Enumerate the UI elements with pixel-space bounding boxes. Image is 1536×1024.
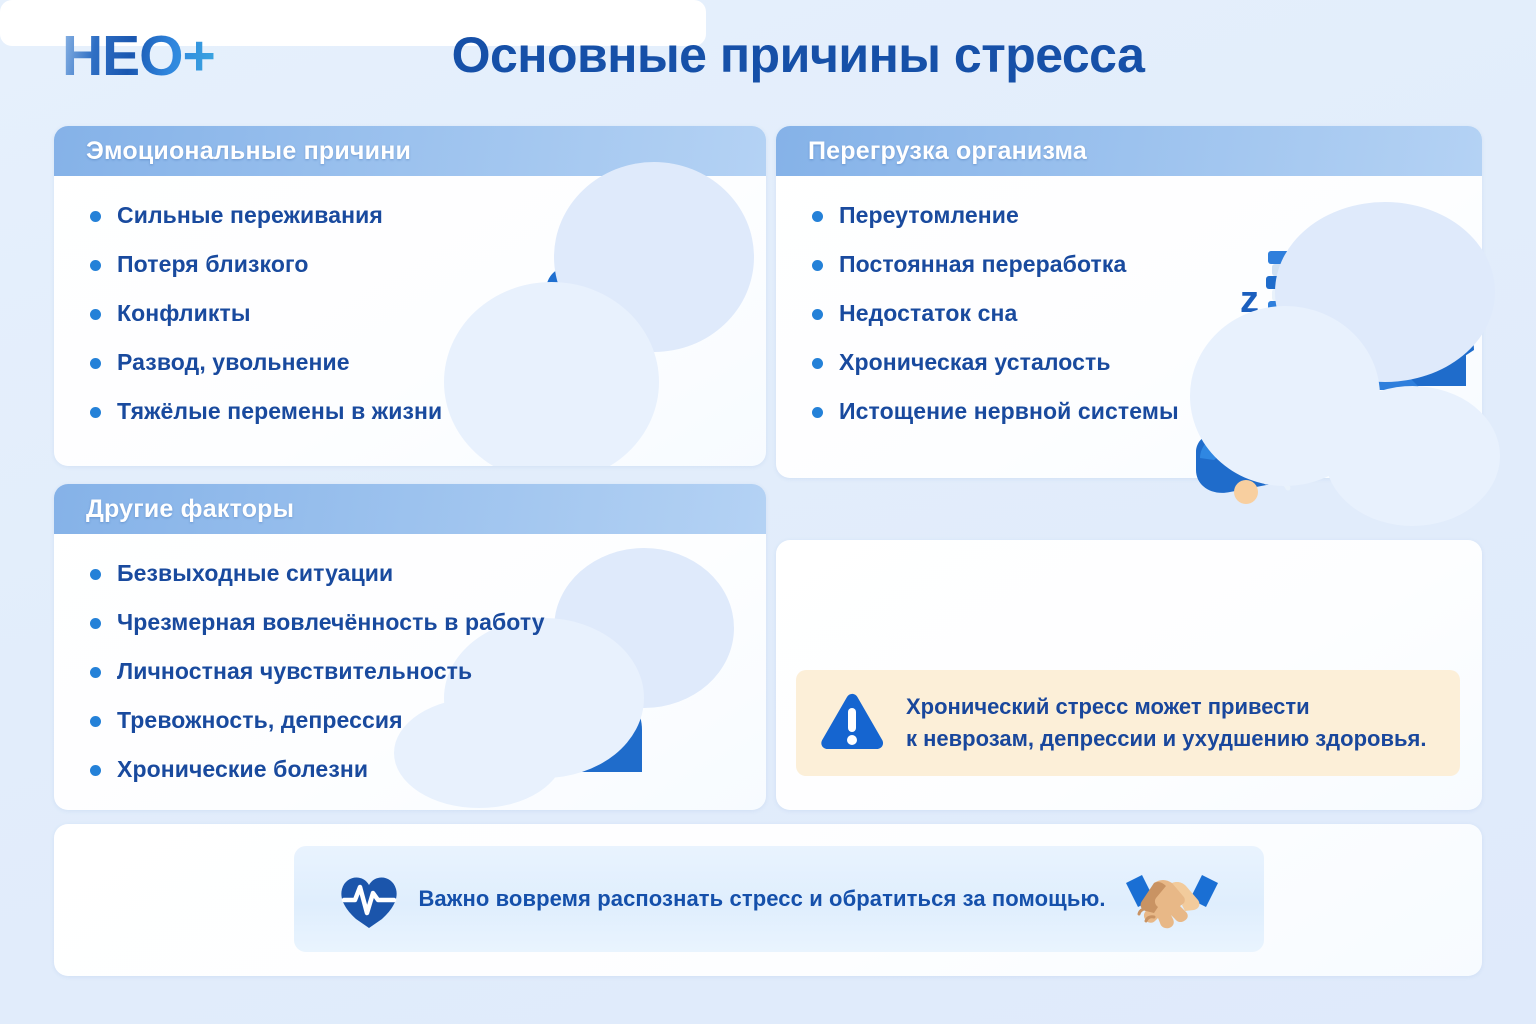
- list-item: Потеря близкого: [90, 251, 736, 278]
- list-item: Тревожность, депрессия: [90, 707, 736, 734]
- warning-triangle-icon: [818, 692, 886, 754]
- warning-line-2: к неврозам, депрессии и ухудшению здоров…: [906, 723, 1426, 755]
- list-item-label: Потеря близкого: [117, 251, 309, 278]
- infographic-page: НЕО+ Основные причины стресса Эмоциональ…: [0, 0, 1536, 1024]
- emotional-list: Сильные переживания Потеря близкого Конф…: [90, 202, 736, 425]
- list-item: Сильные переживания: [90, 202, 736, 229]
- list-item: Хроническая усталость: [812, 349, 1452, 376]
- list-item: Недостаток сна: [812, 300, 1452, 327]
- bullet-dot-icon: [90, 211, 101, 222]
- bullet-dot-icon: [90, 260, 101, 271]
- handshake-icon: [1124, 867, 1220, 931]
- bullet-dot-icon: [90, 618, 101, 629]
- warning-text: Хронический стресс может привести к невр…: [906, 691, 1426, 755]
- list-item: Безвыходные ситуации: [90, 560, 736, 587]
- card-overload: Перегрузка организма Переутомление Посто…: [776, 126, 1482, 478]
- bullet-dot-icon: [812, 407, 823, 418]
- warning-line-1: Хронический стресс может привести: [906, 691, 1426, 723]
- list-item-label: Сильные переживания: [117, 202, 383, 229]
- list-item-label: Переутомление: [839, 202, 1019, 229]
- list-item: Тяжёлые перемены в жизни: [90, 398, 736, 425]
- list-item-label: Развод, увольнение: [117, 349, 350, 376]
- bullet-dot-icon: [812, 260, 823, 271]
- footer-text: Важно вовремя распознать стресс и обрати…: [418, 886, 1105, 912]
- card-other: Другие факторы Безвыходные ситуации Чрез…: [54, 484, 766, 810]
- bullet-dot-icon: [90, 569, 101, 580]
- other-list: Безвыходные ситуации Чрезмерная вовлечён…: [90, 560, 736, 783]
- card-emotional-body: Сильные переживания Потеря близкого Конф…: [54, 176, 766, 445]
- warning-callout: Хронический стресс может привести к невр…: [796, 670, 1460, 776]
- card-emotional-header: Эмоциональные причини: [54, 126, 766, 176]
- card-emotional-title: Эмоциональные причини: [86, 137, 411, 166]
- list-item: Конфликты: [90, 300, 736, 327]
- list-item-label: Безвыходные ситуации: [117, 560, 393, 587]
- bullet-dot-icon: [90, 765, 101, 776]
- list-item: Постоянная переработка: [812, 251, 1452, 278]
- card-other-title: Другие факторы: [86, 495, 294, 524]
- bullet-dot-icon: [812, 309, 823, 320]
- overload-list: Переутомление Постоянная переработка Нед…: [812, 202, 1452, 425]
- list-item-label: Истощение нервной системы: [839, 398, 1179, 425]
- bullet-dot-icon: [90, 407, 101, 418]
- list-item: Переутомление: [812, 202, 1452, 229]
- card-other-body: Безвыходные ситуации Чрезмерная вовлечён…: [54, 534, 766, 803]
- card-overload-title: Перегрузка организма: [808, 137, 1087, 166]
- list-item-label: Недостаток сна: [839, 300, 1017, 327]
- list-item-label: Тяжёлые перемены в жизни: [117, 398, 442, 425]
- bullet-dot-icon: [812, 358, 823, 369]
- bullet-dot-icon: [90, 358, 101, 369]
- card-other-header: Другие факторы: [54, 484, 766, 534]
- list-item: Истощение нервной системы: [812, 398, 1452, 425]
- bullet-dot-icon: [812, 211, 823, 222]
- list-item-label: Хронические болезни: [117, 756, 368, 783]
- list-item-label: Тревожность, депрессия: [117, 707, 403, 734]
- card-overload-header: Перегрузка организма: [776, 126, 1482, 176]
- list-item-label: Чрезмерная вовлечённость в работу: [117, 609, 545, 636]
- bullet-dot-icon: [90, 716, 101, 727]
- card-emotional: Эмоциональные причини Сильные переживани…: [54, 126, 766, 466]
- list-item-label: Постоянная переработка: [839, 251, 1126, 278]
- list-item: Чрезмерная вовлечённость в работу: [90, 609, 736, 636]
- card-footer: Важно вовремя распознать стресс и обрати…: [54, 824, 1482, 976]
- list-item-label: Хроническая усталость: [839, 349, 1111, 376]
- footer-banner: Важно вовремя распознать стресс и обрати…: [294, 846, 1264, 952]
- card-overload-body: Переутомление Постоянная переработка Нед…: [776, 176, 1482, 445]
- list-item-label: Конфликты: [117, 300, 251, 327]
- list-item-label: Личностная чувствительность: [117, 658, 472, 685]
- bullet-dot-icon: [90, 667, 101, 678]
- list-item: Хронические болезни: [90, 756, 736, 783]
- card-warning: Хронический стресс может привести к невр…: [776, 540, 1482, 810]
- page-title: Основные причины стресса: [0, 26, 1536, 84]
- list-item: Развод, увольнение: [90, 349, 736, 376]
- bullet-dot-icon: [90, 309, 101, 320]
- list-item: Личностная чувствительность: [90, 658, 736, 685]
- heart-pulse-icon: [338, 870, 400, 928]
